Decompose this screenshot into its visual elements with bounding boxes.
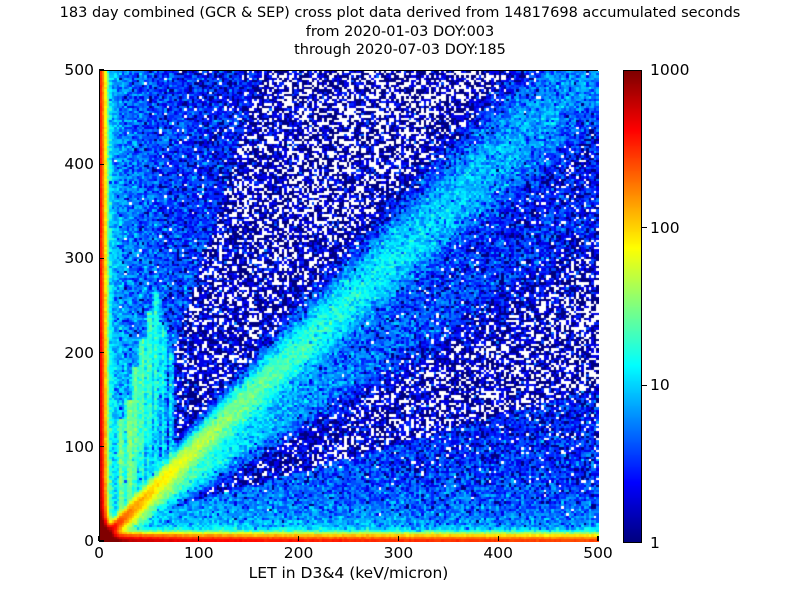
- x-ticklabel-100: 100: [184, 544, 214, 562]
- y-ticklabel-500: 500: [64, 61, 94, 79]
- x-tick-200: [298, 536, 299, 541]
- y-ticklabel-100: 100: [64, 438, 94, 456]
- x-axis-label: LET in D3&4 (keV/micron): [99, 564, 598, 582]
- x-ticklabel-200: 200: [284, 544, 314, 562]
- y-tick-0: [99, 540, 104, 541]
- colorbar-tick-100: [642, 227, 647, 228]
- colorbar-ticklabel-100: 100: [650, 219, 680, 237]
- title-line-3: through 2020-07-03 DOY:185: [0, 41, 800, 60]
- x-tick-300: [398, 536, 399, 541]
- x-tick-100: [198, 536, 199, 541]
- y-tick-500: [99, 69, 104, 70]
- colorbar-ticklabel-1000: 1000: [650, 61, 689, 79]
- colorbar-ticklabel-10: 10: [650, 376, 670, 394]
- y-ticklabel-300: 300: [64, 249, 94, 267]
- colorbar-ticklabel-1: 1: [650, 534, 660, 552]
- y-tick-400: [99, 164, 104, 165]
- y-tick-300: [99, 258, 104, 259]
- x-ticklabel-400: 400: [483, 544, 513, 562]
- x-tick-500: [597, 536, 598, 541]
- x-ticklabel-500: 500: [583, 544, 613, 562]
- plot-area: [99, 70, 598, 541]
- colorbar-gradient: [624, 71, 641, 542]
- y-ticklabel-200: 200: [64, 344, 94, 362]
- chart-title: 183 day combined (GCR & SEP) cross plot …: [0, 4, 800, 60]
- x-ticklabel-0: 0: [94, 544, 104, 562]
- y-tick-100: [99, 446, 104, 447]
- colorbar-tick-10: [642, 385, 647, 386]
- colorbar: [623, 70, 642, 543]
- y-tick-200: [99, 352, 104, 353]
- title-line-2: from 2020-01-03 DOY:003: [0, 23, 800, 42]
- x-tick-400: [498, 536, 499, 541]
- title-line-1: 183 day combined (GCR & SEP) cross plot …: [0, 4, 800, 23]
- figure-canvas: 183 day combined (GCR & SEP) cross plot …: [0, 0, 800, 600]
- y-ticklabel-400: 400: [64, 155, 94, 173]
- x-ticklabel-300: 300: [384, 544, 414, 562]
- heatmap-canvas: [100, 71, 599, 542]
- y-ticklabel-0: 0: [84, 532, 94, 550]
